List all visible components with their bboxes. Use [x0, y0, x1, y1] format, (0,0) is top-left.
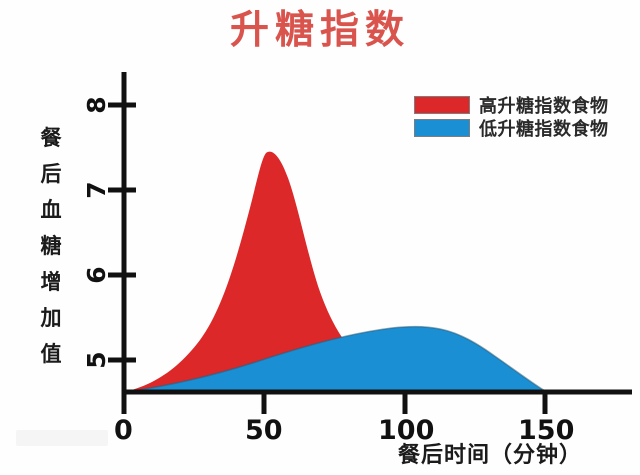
- low-gi-swatch: [414, 119, 470, 137]
- y-axis-title-char: 加: [36, 300, 66, 336]
- y-axis-title-char: 餐: [36, 120, 66, 156]
- y-tick-label-8: 8: [83, 88, 111, 122]
- legend-item-high-gi: 高升糖指数食物: [414, 93, 609, 116]
- y-tick-label-6: 6: [83, 258, 111, 292]
- legend-item-low-gi: 低升糖指数食物: [414, 116, 609, 139]
- x-tick-label-0: 0: [114, 416, 133, 446]
- y-tick-label-5: 5: [83, 343, 111, 377]
- y-tick-label-7: 7: [83, 173, 111, 207]
- y-axis-title-char: 血: [36, 192, 66, 228]
- y-axis-title-char: 糖: [36, 228, 66, 264]
- x-axis-title: 餐后时间（分钟）: [398, 437, 582, 469]
- x-tick-label-50: 50: [245, 416, 283, 446]
- y-axis-title-char: 增: [36, 264, 66, 300]
- legend: 高升糖指数食物 低升糖指数食物: [414, 93, 609, 139]
- y-axis-title-char: 后: [36, 156, 66, 192]
- glycemic-index-chart: 升糖指数 餐 后 血 糖 增 加 值 5 6 7 8 0: [0, 0, 640, 475]
- y-axis-title-char: 值: [36, 336, 66, 372]
- plot-area: [0, 0, 640, 475]
- watermark: [16, 430, 108, 446]
- legend-label-low-gi: 低升糖指数食物: [479, 115, 609, 141]
- high-gi-swatch: [414, 96, 470, 114]
- y-axis-title: 餐 后 血 糖 增 加 值: [36, 120, 66, 372]
